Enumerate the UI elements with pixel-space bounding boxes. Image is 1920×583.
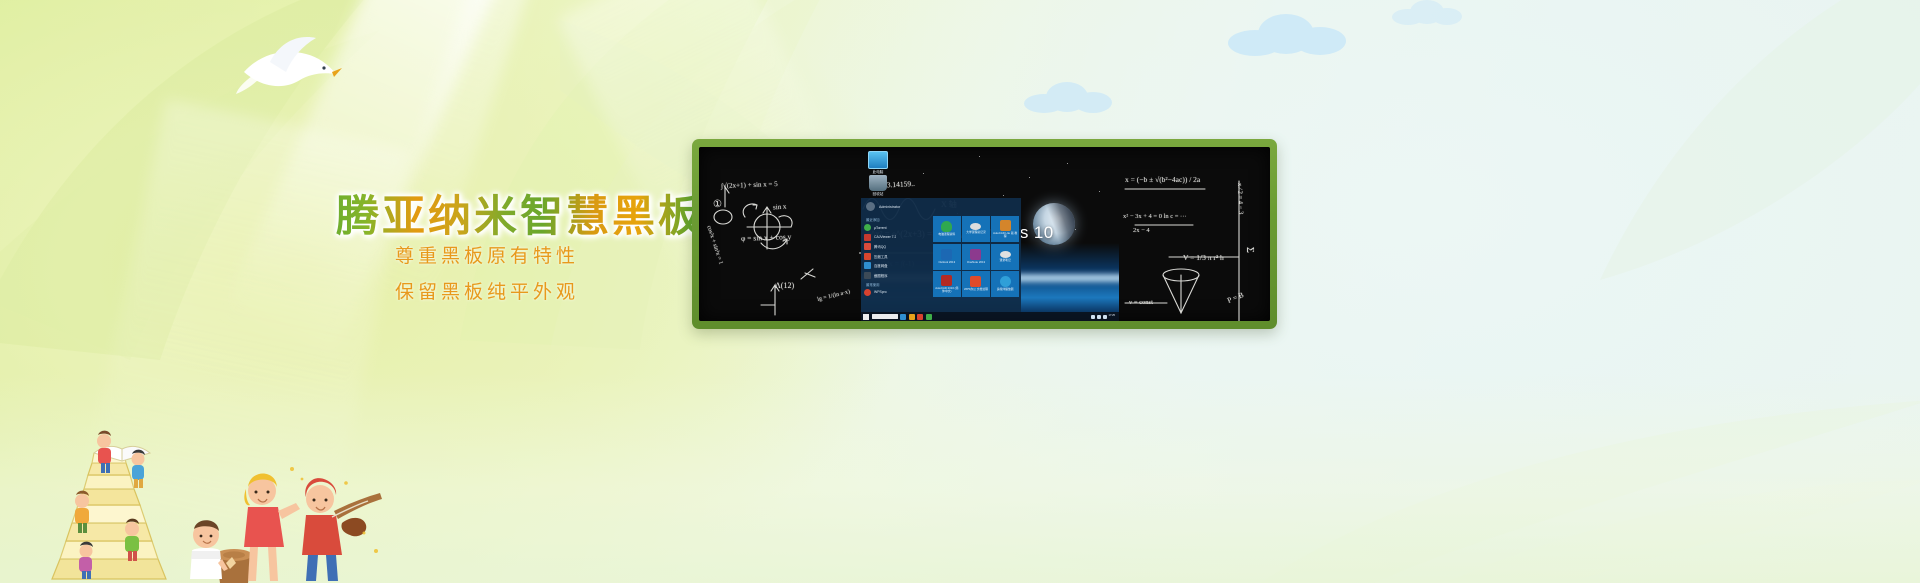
- tile-glyph-icon: [970, 249, 981, 260]
- battery-icon[interactable]: [1103, 315, 1107, 319]
- dove-icon: [236, 32, 344, 94]
- start-menu-app-list[interactable]: 最近添加 μTorrent CAJViewer 7.2 腾讯QQ 压缩工具 百度…: [861, 214, 933, 310]
- tile-glyph-icon: [970, 276, 981, 287]
- kid-singer: [244, 474, 300, 582]
- smart-blackboard[interactable]: ∫√(2x+1) + sin x = 5 ① sin x φ = sin x +…: [692, 139, 1277, 329]
- start-tile[interactable]: 大学课程总记录: [962, 216, 990, 242]
- start-app-item[interactable]: μTorrent: [864, 224, 930, 231]
- tile-glyph-icon: [1000, 220, 1011, 231]
- wps-icon: [864, 289, 871, 296]
- this-pc-icon: [868, 151, 888, 169]
- cloud-icon-1: [1228, 14, 1348, 58]
- archive-tool-icon: [864, 253, 871, 260]
- start-app-item[interactable]: WPSpro: [864, 289, 930, 296]
- chalk-diagram-right: [1119, 171, 1270, 321]
- browser-icon[interactable]: [917, 314, 923, 320]
- cloud-icon-3: [1392, 0, 1462, 26]
- cloud-icon-2: [1024, 82, 1112, 114]
- children-illustration: [46, 383, 406, 583]
- windows-desktop-screen[interactable]: 此电脑 回收站 Windows 10 Administrator 最近添加: [861, 147, 1119, 321]
- start-tile[interactable]: 课堂笔记: [991, 244, 1019, 270]
- tile-glyph-icon: [970, 223, 981, 230]
- start-tile[interactable]: WPS办公 文档处理: [962, 271, 990, 297]
- baidu-netdisk-icon: [864, 262, 871, 269]
- tile-glyph-icon: [941, 249, 952, 260]
- qq-icon: [864, 243, 871, 250]
- search-input[interactable]: [872, 314, 898, 320]
- system-tray[interactable]: 17:25: [1091, 315, 1118, 319]
- task-view-icon[interactable]: [900, 314, 906, 320]
- explorer-icon[interactable]: [909, 314, 915, 320]
- start-section-heading-0: 最近添加: [866, 217, 930, 222]
- avatar: [866, 202, 875, 211]
- kid-figure-2: [132, 450, 146, 488]
- start-app-item[interactable]: 压缩工具: [864, 253, 930, 260]
- cajviewer-icon: [864, 234, 871, 241]
- desktop-icon-this-pc[interactable]: 此电脑: [867, 151, 889, 174]
- tile-glyph-icon: [1000, 276, 1011, 287]
- start-app-item[interactable]: 腾讯QQ: [864, 243, 930, 250]
- chalk-diagram-left: [709, 173, 869, 321]
- screenshot-tool-icon: [864, 272, 871, 279]
- app-icon[interactable]: [926, 314, 932, 320]
- start-menu-tiles[interactable]: 电脑课程资料 大学课程总记录 AutoCAD Lite 版 教程 Outlook…: [933, 214, 1021, 310]
- desktop-icon-recycle-bin[interactable]: 回收站: [867, 175, 889, 196]
- start-menu-user[interactable]: Administrator: [861, 198, 1021, 214]
- recycle-bin-icon: [869, 175, 887, 191]
- start-tile[interactable]: 电脑课程资料: [933, 216, 961, 242]
- tile-glyph-icon: [941, 275, 952, 286]
- start-section-heading-1: 最常使用: [866, 282, 930, 287]
- start-tile[interactable]: OneNote 2013: [962, 244, 990, 270]
- taskbar-clock[interactable]: 17:25: [1109, 315, 1116, 318]
- kid-violinist: [302, 478, 382, 581]
- utorrent-icon: [864, 224, 871, 231]
- windows-logo-icon[interactable]: [863, 314, 869, 320]
- start-app-item[interactable]: CAJViewer 7.2: [864, 234, 930, 241]
- tile-glyph-icon: [1000, 251, 1011, 258]
- start-tile[interactable]: AutoCAD Lite 版 教程: [991, 216, 1019, 242]
- tile-glyph-icon: [941, 221, 952, 232]
- network-icon[interactable]: [1091, 315, 1095, 319]
- start-tile[interactable]: AutoCAD 2016 (简体中文): [933, 271, 961, 297]
- taskbar[interactable]: 17:25: [861, 312, 1119, 321]
- start-app-item[interactable]: 百度网盘: [864, 262, 930, 269]
- banner-stage: 腾亚纳米智慧黑板 腾亚纳米智慧黑板 尊重黑板原有特性 保留黑板纯平外观 ∫√(2…: [0, 0, 1920, 583]
- volume-icon[interactable]: [1097, 315, 1101, 319]
- start-menu[interactable]: Administrator 最近添加 μTorrent CAJViewer 7.…: [861, 198, 1021, 312]
- start-tile[interactable]: 多媒体播放器: [991, 271, 1019, 297]
- blackboard-surface: ∫√(2x+1) + sin x = 5 ① sin x φ = sin x +…: [699, 147, 1270, 321]
- start-tile[interactable]: Outlook 2013: [933, 244, 961, 270]
- start-app-item[interactable]: 截图程序: [864, 272, 930, 279]
